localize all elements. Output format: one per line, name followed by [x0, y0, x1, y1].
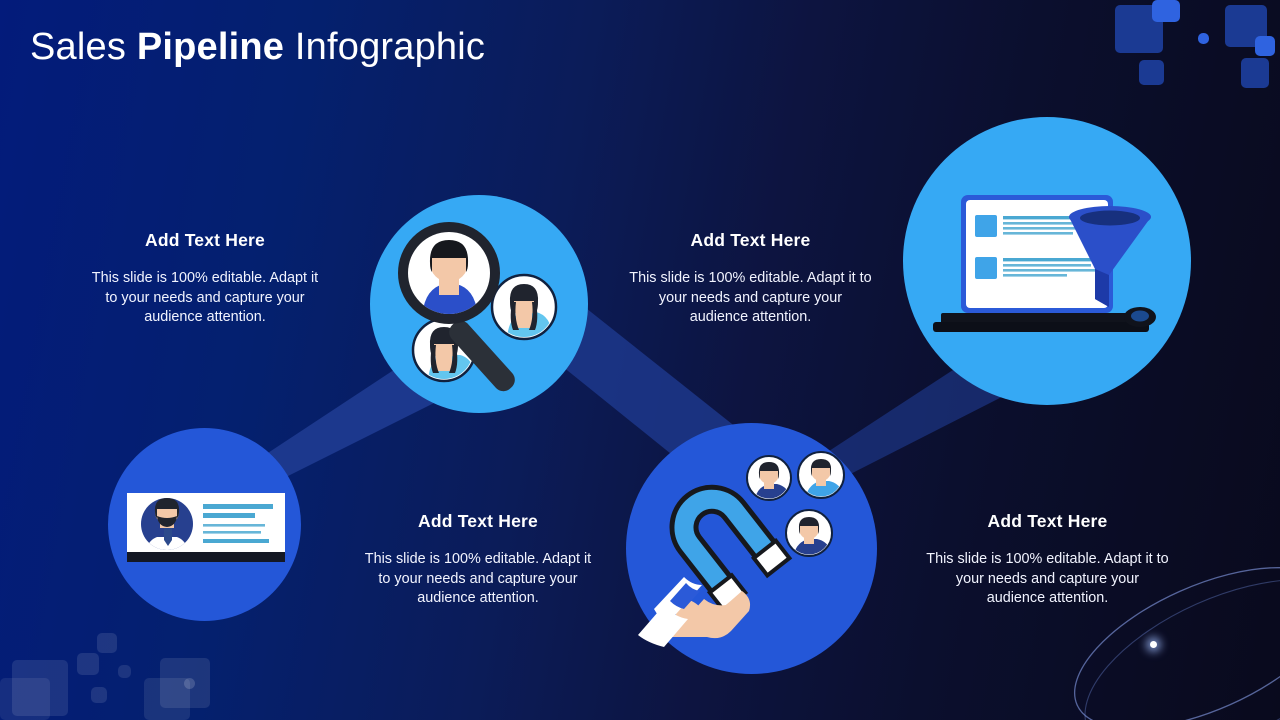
laptop-funnel-icon — [903, 117, 1191, 405]
title-part-one: Sales — [30, 26, 137, 68]
prospect-search-icon — [370, 195, 588, 413]
text-block-step-2: Add Text Here This slide is 100% editabl… — [85, 230, 325, 328]
decorative-square — [184, 678, 195, 689]
step-body: This slide is 100% editable. Adapt it to… — [926, 550, 1169, 609]
decorative-square — [1139, 60, 1164, 85]
step-body: This slide is 100% editable. Adapt it to… — [358, 550, 598, 609]
decorative-square — [1225, 5, 1267, 47]
step-heading: Add Text Here — [358, 511, 598, 532]
step-heading: Add Text Here — [628, 230, 873, 251]
page-title: Sales Pipeline Infographic — [30, 26, 485, 69]
step-body: This slide is 100% editable. Adapt it to… — [85, 269, 325, 328]
node-circle-step-1[interactable] — [108, 428, 301, 621]
decorative-square — [1152, 0, 1180, 22]
decorative-square — [1115, 5, 1163, 53]
step-body: This slide is 100% editable. Adapt it to… — [628, 269, 873, 328]
text-block-step-1: Add Text Here This slide is 100% editabl… — [358, 511, 598, 609]
decorative-square — [97, 633, 117, 653]
step-heading: Add Text Here — [926, 511, 1169, 532]
decorative-square — [1241, 58, 1269, 88]
decorative-square — [0, 678, 50, 720]
node-circle-step-2[interactable] — [370, 195, 588, 413]
text-block-step-4: Add Text Here This slide is 100% editabl… — [628, 230, 873, 328]
title-highlight: Pipeline — [137, 26, 284, 68]
decorative-square — [12, 660, 68, 716]
decorative-square — [118, 665, 131, 678]
text-block-step-3: Add Text Here This slide is 100% editabl… — [926, 511, 1169, 609]
node-circle-step-3[interactable] — [626, 423, 877, 674]
decorative-square — [144, 678, 190, 720]
orbit-glow-dot — [1150, 641, 1157, 648]
lead-magnet-icon — [626, 423, 877, 674]
decorative-square — [1255, 36, 1275, 56]
title-part-two: Infographic — [284, 26, 485, 68]
decorative-square — [160, 658, 210, 708]
infographic-slide: Sales Pipeline Infographic — [0, 0, 1280, 720]
decorative-square — [1198, 33, 1209, 44]
profile-card-icon — [108, 428, 301, 621]
node-circle-step-4[interactable] — [903, 117, 1191, 405]
decorative-square — [91, 687, 107, 703]
step-heading: Add Text Here — [85, 230, 325, 251]
decorative-square — [77, 653, 99, 675]
